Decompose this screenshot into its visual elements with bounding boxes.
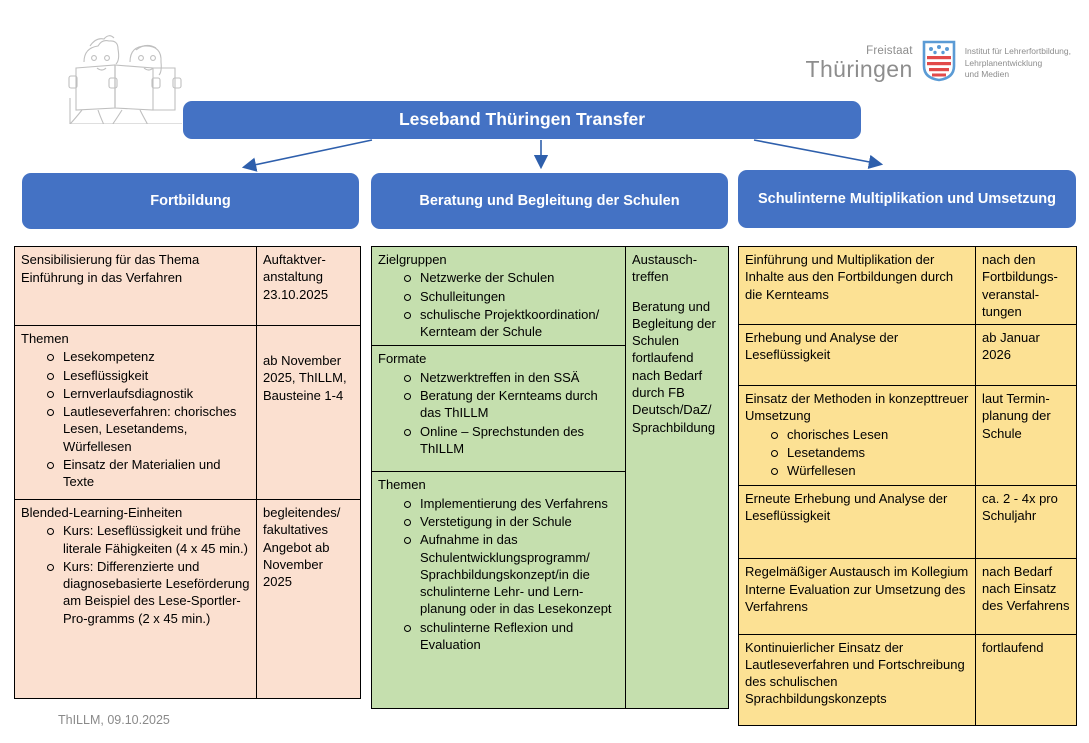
cell-when: begleitendes/ fakultatives Angebot ab No…	[257, 500, 361, 699]
table-row: Kontinuierlicher Einsatz der Lautlesever…	[739, 634, 1077, 725]
list-item: Würfellesen	[771, 462, 970, 479]
list-item: schulinterne Reflexion und Evaluation	[404, 619, 620, 654]
row-lead: Themen	[378, 476, 620, 493]
branch-box-beratung[interactable]: Beratung und Begleitung der Schulen	[371, 173, 728, 229]
list-item: Beratung der Kernteams durch das ThILLM	[404, 387, 620, 422]
table-row: Sensibilisierung für das Thema Einführun…	[15, 247, 361, 326]
list-item: Kurs: Differenzierte und diagnosebasiert…	[47, 558, 251, 627]
row-lead: Kontinuierlicher Einsatz der Lautlesever…	[745, 639, 970, 708]
list-item: Lernverlaufsdiagnostik	[47, 385, 251, 402]
footer-text: ThILLM, 09.10.2025	[58, 713, 170, 727]
institute-name: Institut für Lehrerfortbildung, Lehrplan…	[965, 46, 1071, 81]
row-lead: Themen	[21, 330, 251, 347]
cell-content: Erhebung und Analyse der Leseflüssigkeit	[739, 325, 976, 386]
side-note-2: Beratung und Begleitung der Schulen fort…	[632, 298, 723, 436]
list-item: Verstetigung in der Schule	[404, 513, 620, 530]
row-lead: Erneute Erhebung und Analyse der Leseflü…	[745, 490, 970, 525]
list-item: schulische Projektkoordination/ Kernteam…	[404, 306, 620, 341]
bullet-list: Implementierung des Verfahrens Verstetig…	[378, 495, 620, 654]
row-lead: Erhebung und Analyse der Leseflüssigkeit	[745, 329, 970, 364]
thueringen-name-label: Thüringen	[806, 58, 913, 81]
row-lead: Regelmäßiger Austausch im Kollegium	[745, 563, 970, 580]
bullet-list: Netzwerke der Schulen Schulleitungen sch…	[378, 269, 620, 340]
row-lead-2: Einführung in das Verfahren	[21, 269, 251, 286]
children-reading-logo	[52, 24, 182, 124]
thuringia-crest-icon	[922, 40, 956, 87]
cell-content: Formate Netzwerktreffen in den SSÄ Berat…	[372, 346, 626, 472]
spacer	[632, 287, 723, 298]
cell-when: nach den Fortbildungs-veranstal-tungen	[976, 247, 1077, 325]
cell-side-note: Austausch-treffen Beratung und Begleitun…	[626, 247, 729, 709]
list-item: Lesetandems	[771, 444, 970, 461]
thueringen-wordmark: Freistaat Thüringen	[806, 46, 913, 82]
list-item: Schulleitungen	[404, 288, 620, 305]
bullet-list: Kurs: Leseflüssigkeit und frühe literale…	[21, 522, 251, 627]
side-note-1: Austausch-treffen	[632, 251, 723, 286]
cell-when: ab November 2025, ThILLM, Bausteine 1-4	[257, 326, 361, 500]
list-item: Online – Sprechstunden des ThILLM	[404, 423, 620, 458]
list-item: Aufnahme in das Schulentwicklungsprogram…	[404, 531, 620, 617]
table-beratung: Zielgruppen Netzwerke der Schulen Schull…	[371, 246, 729, 709]
cell-content: Themen Implementierung des Verfahrens Ve…	[372, 472, 626, 709]
row-lead: Blended-Learning-Einheiten	[21, 504, 251, 521]
table-schulinterne: Einführung und Multiplikation der Inhalt…	[738, 246, 1077, 726]
cell-content: Regelmäßiger Austausch im Kollegium Inte…	[739, 558, 976, 634]
cell-content: Einsatz der Methoden in konzepttreuer Um…	[739, 386, 976, 485]
table-row: Blended-Learning-Einheiten Kurs: Leseflü…	[15, 500, 361, 699]
cell-when: ab Januar 2026	[976, 325, 1077, 386]
table-row: Einführung und Multiplikation der Inhalt…	[739, 247, 1077, 325]
list-item: Netzwerke der Schulen	[404, 269, 620, 286]
table-row: Einsatz der Methoden in konzepttreuer Um…	[739, 386, 1077, 485]
list-item: Implementierung des Verfahrens	[404, 495, 620, 512]
cell-content: Blended-Learning-Einheiten Kurs: Leseflü…	[15, 500, 257, 699]
list-item: Lesekompetenz	[47, 348, 251, 365]
list-item: Lautleseverfahren: chorisches Lesen, Les…	[47, 403, 251, 455]
bullet-list: Lesekompetenz Leseflüssigkeit Lernverlau…	[21, 348, 251, 490]
cell-when: ca. 2 - 4x pro Schuljahr	[976, 485, 1077, 558]
cell-when: fortlaufend	[976, 634, 1077, 725]
diagram-title-box: Leseband Thüringen Transfer	[183, 101, 861, 139]
row-lead: Zielgruppen	[378, 251, 620, 268]
row-lead: Einsatz der Methoden in konzepttreuer Um…	[745, 390, 970, 425]
institute-line-2: Lehrplanentwicklung	[965, 58, 1071, 70]
table-row: Erhebung und Analyse der Leseflüssigkeit…	[739, 325, 1077, 386]
table-fortbildung: Sensibilisierung für das Thema Einführun…	[14, 246, 361, 699]
cell-content: Einführung und Multiplikation der Inhalt…	[739, 247, 976, 325]
cell-content: Sensibilisierung für das Thema Einführun…	[15, 247, 257, 326]
list-item: chorisches Lesen	[771, 426, 970, 443]
row-lead: Einführung und Multiplikation der Inhalt…	[745, 251, 970, 303]
cell-content: Zielgruppen Netzwerke der Schulen Schull…	[372, 247, 626, 346]
thueringen-logo: Freistaat Thüringen Institut für Lehrerf…	[806, 40, 1071, 87]
cell-when: laut Termin-planung der Schule	[976, 386, 1077, 485]
row-lead: Sensibilisierung für das Thema	[21, 251, 251, 268]
cell-when: Auftaktver-anstaltung 23.10.2025	[257, 247, 361, 326]
institute-line-1: Institut für Lehrerfortbildung,	[965, 46, 1071, 58]
bullet-list: Netzwerktreffen in den SSÄ Beratung der …	[378, 369, 620, 457]
table-row: Themen Lesekompetenz Leseflüssigkeit Ler…	[15, 326, 361, 500]
list-item: Netzwerktreffen in den SSÄ	[404, 369, 620, 386]
institute-line-3: und Medien	[965, 69, 1071, 81]
cell-content: Themen Lesekompetenz Leseflüssigkeit Ler…	[15, 326, 257, 500]
cell-content: Erneute Erhebung und Analyse der Leseflü…	[739, 485, 976, 558]
branch-box-schulinterne[interactable]: Schulinterne Multiplikation und Umsetzun…	[738, 170, 1076, 228]
list-item: Einsatz der Materialien und Texte	[47, 456, 251, 491]
cell-when: nach Bedarf nach Einsatz des Verfahrens	[976, 558, 1077, 634]
branch-box-fortbildung[interactable]: Fortbildung	[22, 173, 359, 229]
row-lead: Formate	[378, 350, 620, 367]
bullet-list: chorisches Lesen Lesetandems Würfellesen	[745, 426, 970, 480]
list-item: Kurs: Leseflüssigkeit und frühe literale…	[47, 522, 251, 557]
list-item: Leseflüssigkeit	[47, 367, 251, 384]
cell-content: Kontinuierlicher Einsatz der Lautlesever…	[739, 634, 976, 725]
table-row: Regelmäßiger Austausch im Kollegium Inte…	[739, 558, 1077, 634]
table-row: Zielgruppen Netzwerke der Schulen Schull…	[372, 247, 729, 346]
table-row: Erneute Erhebung und Analyse der Leseflü…	[739, 485, 1077, 558]
row-lead-2: Interne Evaluation zur Umsetzung des Ver…	[745, 581, 970, 616]
